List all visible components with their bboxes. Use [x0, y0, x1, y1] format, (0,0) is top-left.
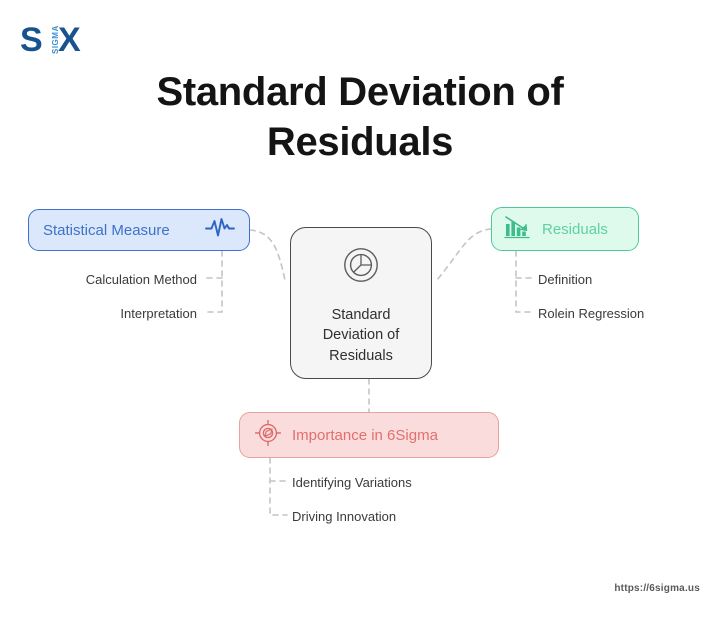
- subitem-calculation-method[interactable]: Calculation Method: [0, 272, 197, 287]
- subitem-interpretation[interactable]: Interpretation: [0, 306, 197, 321]
- subitem-definition[interactable]: Definition: [538, 272, 592, 287]
- node-standard-deviation-of-residuals[interactable]: Standard Deviation of Residuals: [290, 227, 432, 379]
- node-center-label-line-1: Standard: [332, 307, 391, 323]
- subitem-identifying-variations[interactable]: Identifying Variations: [292, 475, 412, 490]
- target-compass-icon: [254, 419, 282, 452]
- node-center-label: Standard Deviation of Residuals: [323, 305, 400, 367]
- node-center-label-line-3: Residuals: [329, 348, 393, 364]
- connector-right-to-center: [437, 229, 491, 280]
- connector-residuals-subitems: [516, 251, 533, 312]
- subitem-driving-innovation[interactable]: Driving Innovation: [292, 509, 396, 524]
- pie-chart-circle-icon: [340, 244, 382, 291]
- mind-map-diagram: Standard Deviation of Residuals Statisti…: [0, 0, 720, 632]
- node-statistical-measure-label: Statistical Measure: [43, 222, 170, 239]
- node-importance-in-6sigma[interactable]: Importance in 6Sigma: [239, 412, 499, 458]
- subitem-rolein-regression[interactable]: Rolein Regression: [538, 306, 644, 321]
- node-residuals[interactable]: Residuals: [491, 207, 639, 251]
- node-importance-in-6sigma-label: Importance in 6Sigma: [292, 427, 438, 444]
- footer-url[interactable]: https://6sigma.us: [0, 583, 700, 594]
- declining-bar-chart-icon: [504, 214, 532, 245]
- connector-left-to-center: [250, 230, 285, 280]
- connector-importance-subitems: [270, 458, 287, 515]
- activity-pulse-icon: [205, 216, 235, 245]
- node-residuals-label: Residuals: [542, 221, 608, 238]
- node-statistical-measure[interactable]: Statistical Measure: [28, 209, 250, 251]
- node-center-label-line-2: Deviation of: [323, 327, 400, 343]
- connector-statistical-subitems: [205, 251, 222, 312]
